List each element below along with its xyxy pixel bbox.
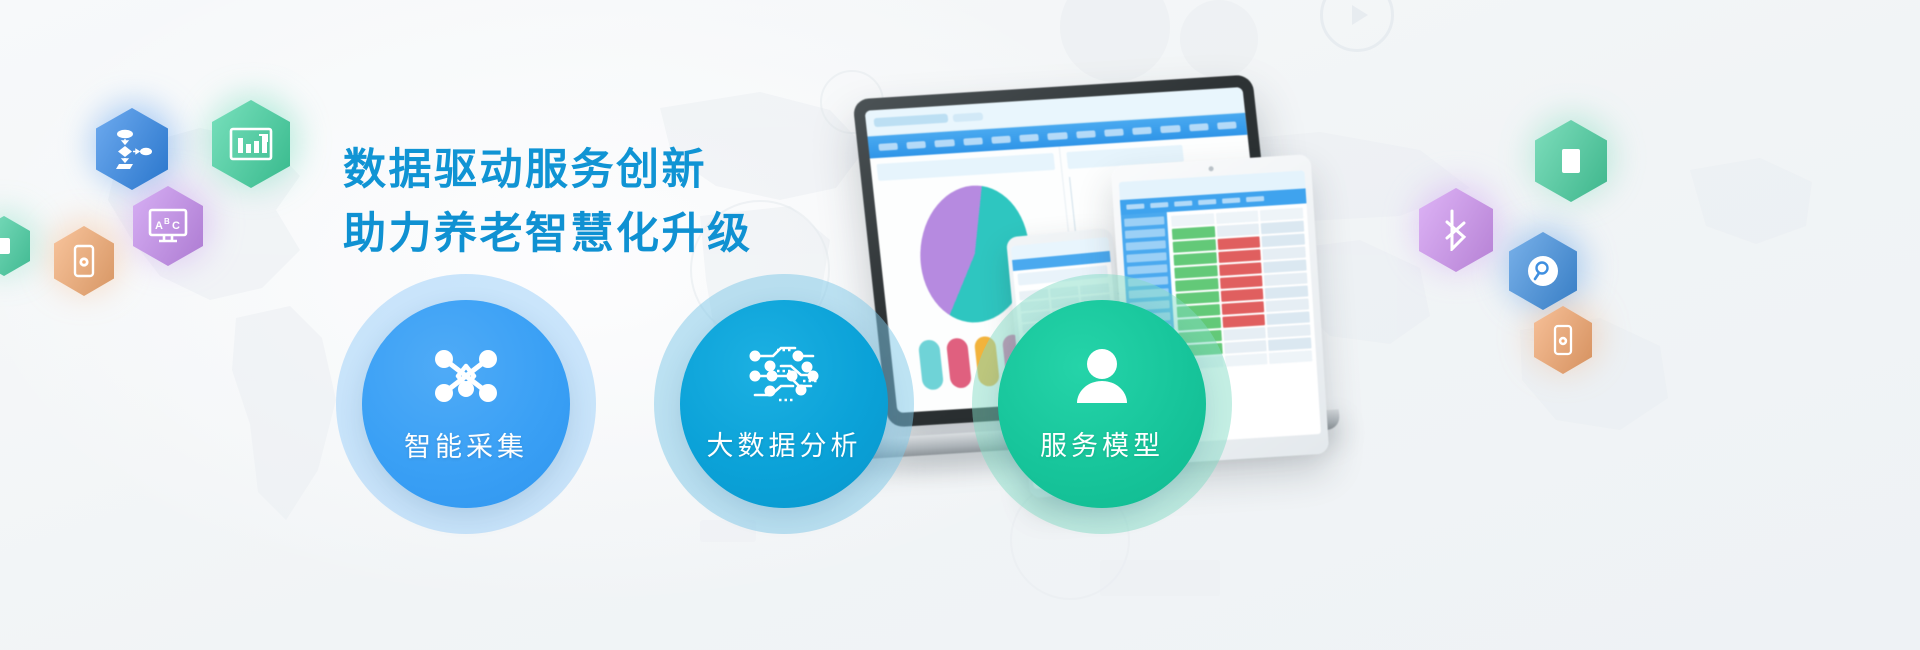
- svg-text:C: C: [172, 220, 180, 232]
- headline-line-1: 数据驱动服务创新: [343, 138, 753, 202]
- headline: 数据驱动服务创新 助力养老智慧化升级: [343, 138, 753, 266]
- feature-label: 大数据分析: [707, 424, 862, 463]
- svg-text:A: A: [155, 220, 163, 232]
- feature-label: 智能采集: [404, 425, 528, 464]
- feature-label: 服务模型: [1040, 424, 1164, 463]
- person-icon: [1071, 345, 1133, 412]
- headline-line-2: 助力养老智慧化升级: [343, 202, 753, 266]
- svg-text:B: B: [164, 217, 170, 226]
- bg-play-icon: [1320, 0, 1394, 52]
- feature-circle-big-data-analysis[interactable]: 大数据分析: [680, 300, 888, 508]
- circuit-board-icon: [745, 345, 823, 412]
- network-nodes-icon: [429, 344, 503, 413]
- feature-circle-intelligent-collection[interactable]: 智能采集: [362, 300, 570, 508]
- hero-banner: 数据驱动服务创新 助力养老智慧化升级: [0, 0, 1920, 650]
- feature-circle-service-model[interactable]: 服务模型: [998, 300, 1206, 508]
